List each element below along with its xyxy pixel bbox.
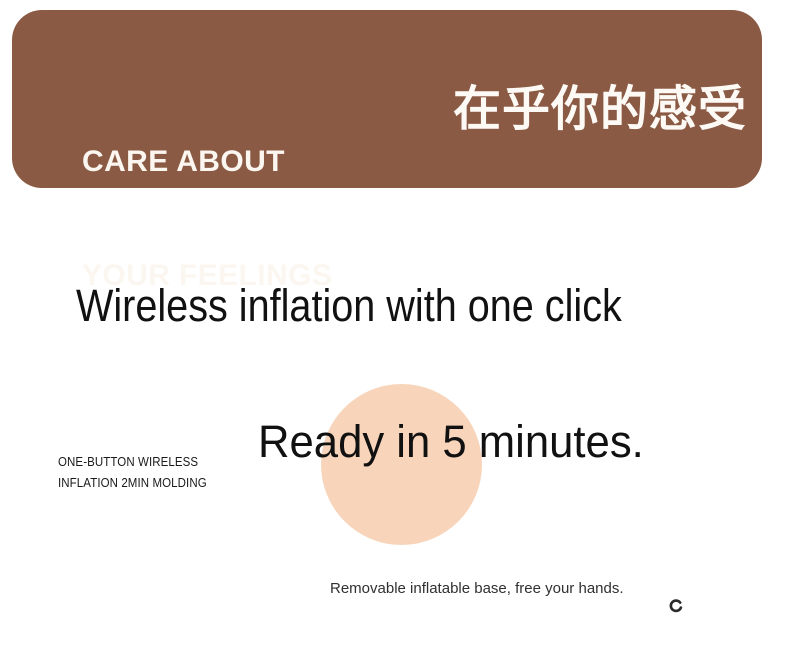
bottom-caption: Removable inflatable base, free your han… (330, 578, 624, 600)
side-caption-line-2: INFLATION 2MIN MOLDING (58, 473, 207, 494)
headline-primary: Wireless inflation with one click (76, 279, 622, 333)
banner-english-line-1: CARE ABOUT (82, 143, 332, 181)
header-banner: CARE ABOUT YOUR FEELINGS 在乎你的感受 (12, 10, 762, 188)
banner-chinese-heading: 在乎你的感受 (453, 80, 747, 138)
product-feature-page: CARE ABOUT YOUR FEELINGS 在乎你的感受 Wireless… (0, 0, 790, 656)
side-caption-line-1: ONE-BUTTON WIRELESS (58, 452, 207, 473)
headline-secondary: Ready in 5 minutes. (258, 414, 644, 470)
side-caption: ONE-BUTTON WIRELESS INFLATION 2MIN MOLDI… (58, 452, 207, 494)
loading-spinner-icon (668, 598, 684, 614)
